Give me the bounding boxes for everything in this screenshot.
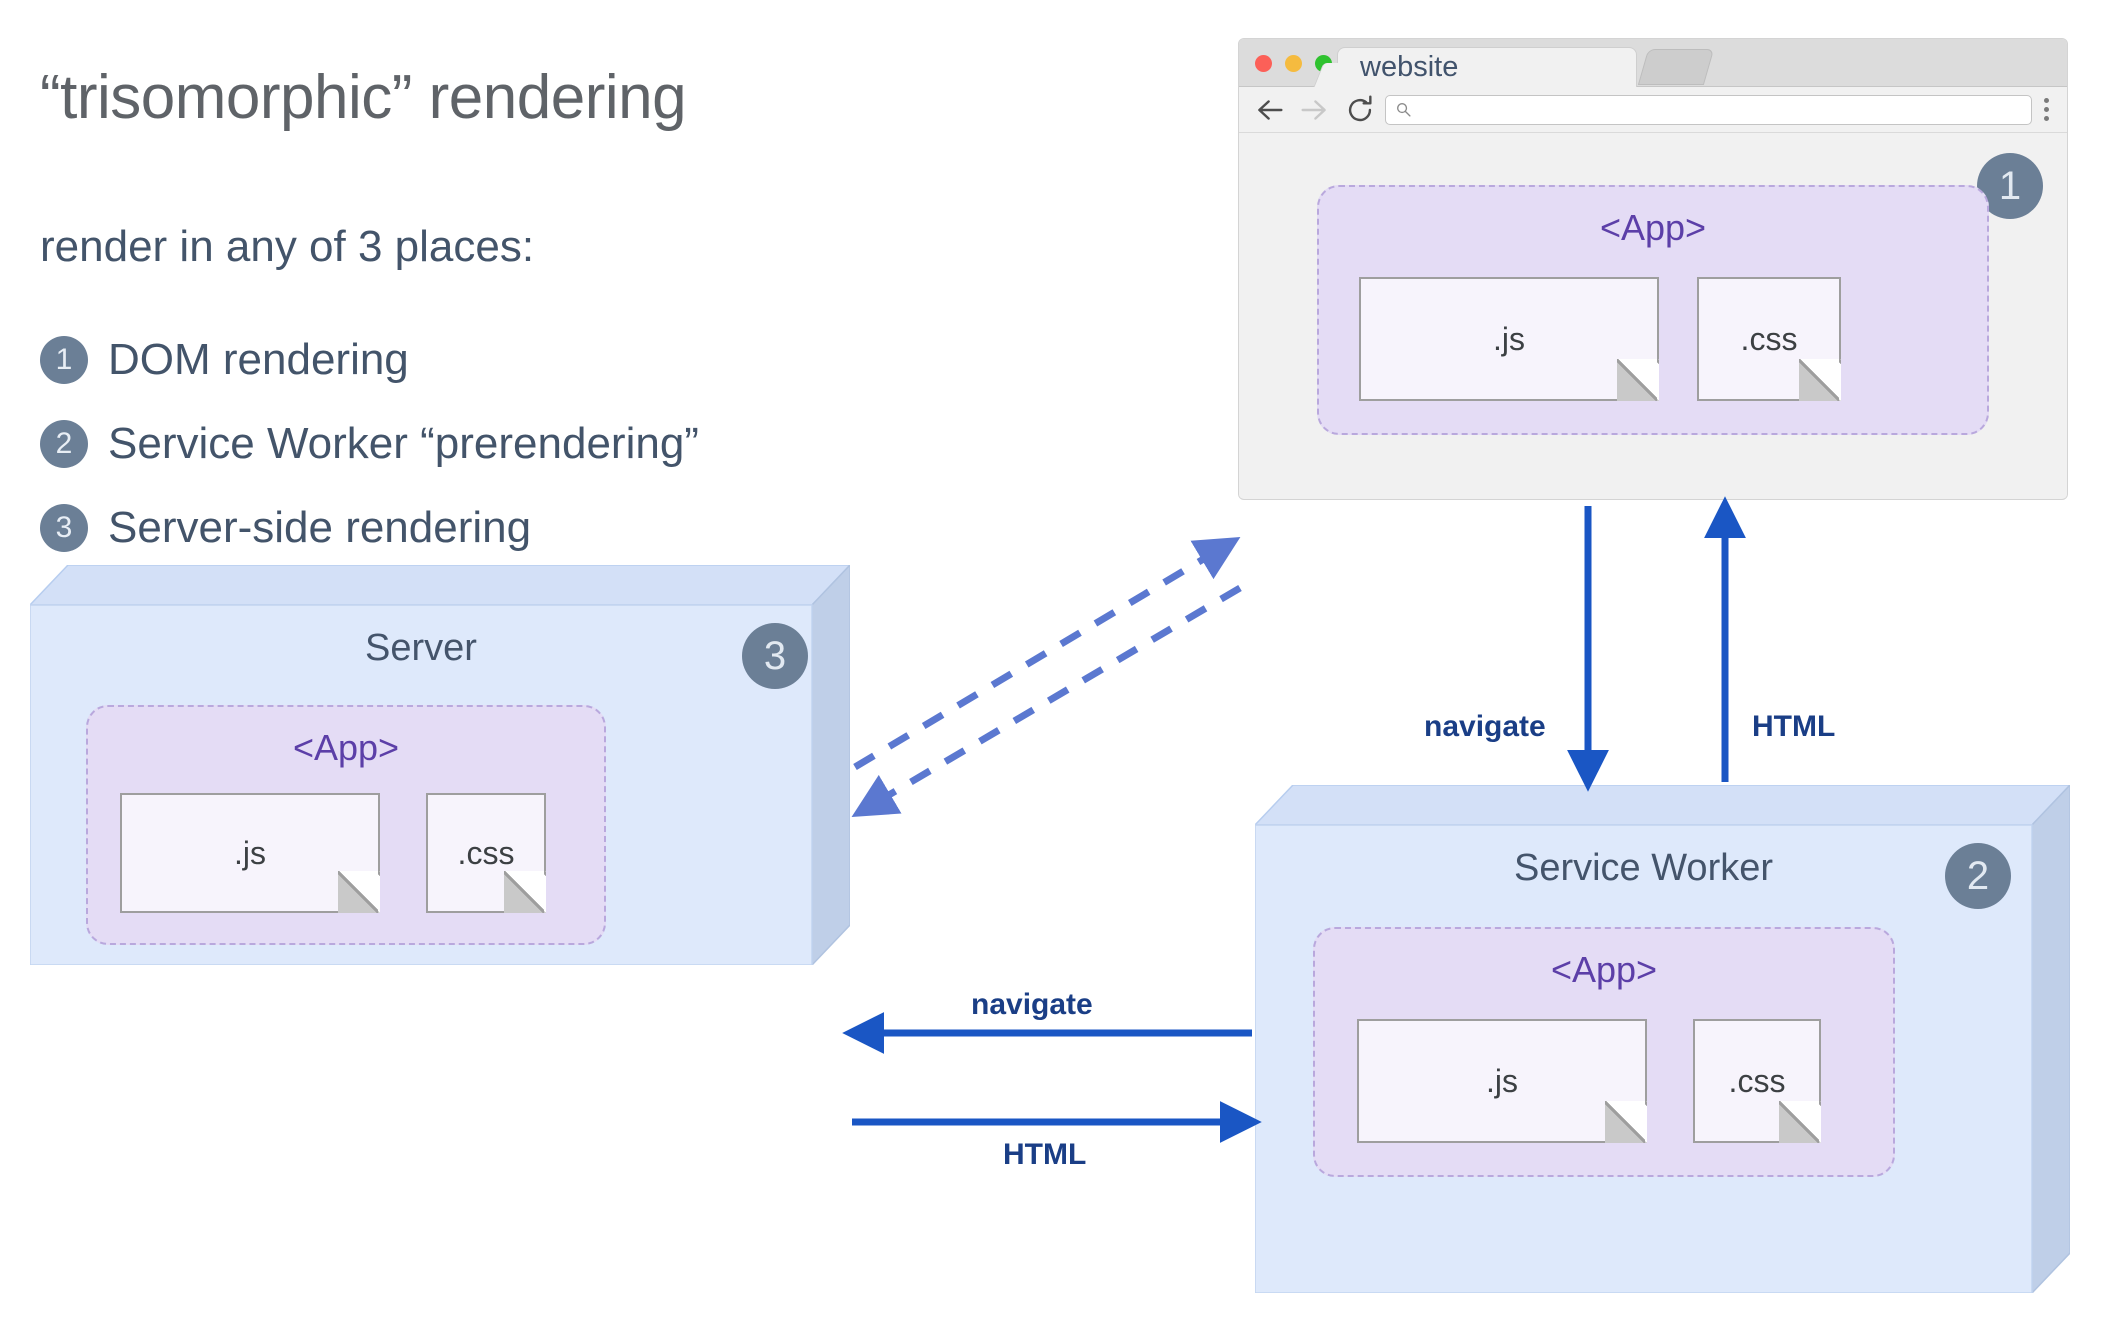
reload-icon[interactable] [1343,93,1377,127]
arrow-label-html-browser: HTML [1752,710,1835,744]
step-badge-3: 3 [742,623,808,689]
address-bar[interactable] [1385,95,2032,125]
file-css: .css [1697,277,1841,401]
file-css: .css [426,793,546,913]
app-title: <App> [88,727,604,769]
search-icon [1395,101,1412,118]
page-fold-corner [1605,1101,1647,1143]
page-fold-corner [1799,359,1841,401]
page-subtitle: render in any of 3 places: [40,222,534,272]
close-window-icon[interactable] [1255,55,1272,72]
kebab-menu-icon[interactable] [2044,98,2049,121]
list-item: 1 DOM rendering [40,318,699,402]
list-item-label: Service Worker “prerendering” [108,419,699,469]
file-js: .js [1357,1019,1647,1143]
minimize-window-icon[interactable] [1285,55,1302,72]
page-fold-corner [1779,1101,1821,1143]
back-arrow-icon[interactable] [1253,93,1287,127]
file-label: .js [1486,1063,1518,1100]
file-label: .js [1493,321,1525,358]
list-item: 3 Server-side rendering [40,486,699,570]
arrow-label-navigate-server: navigate [971,988,1093,1022]
file-label: .js [234,835,266,872]
app-title: <App> [1315,949,1893,991]
list-item-label: DOM rendering [108,335,409,385]
step-badge-2: 2 [1945,843,2011,909]
file-js: .js [120,793,380,913]
arrow-label-navigate-browser: navigate [1424,710,1546,744]
arrow-server-to-browser-dashed [855,542,1232,767]
file-label: .css [1741,321,1798,358]
page-title: “trisomorphic” rendering [40,62,686,133]
browser-window: website [1238,38,2068,500]
app-container-server: <App> .js .css [86,705,606,945]
file-label: .css [458,835,515,872]
diagram-canvas: “trisomorphic” rendering render in any o… [0,0,2108,1328]
file-label: .css [1729,1063,1786,1100]
browser-tab-website[interactable]: website [1337,47,1637,88]
browser-tab-bar: website [1239,39,2067,87]
service-worker-title: Service Worker [1255,847,2032,890]
tab-label: website [1360,51,1458,84]
browser-viewport: 1 <App> .js .css [1239,133,2067,498]
list-item-label: Server-side rendering [108,503,531,553]
page-fold-corner [1617,359,1659,401]
app-container-service-worker: <App> .js .css [1313,927,1895,1177]
places-list: 1 DOM rendering 2 Service Worker “preren… [40,318,699,570]
server-block: Server 3 <App> .js .css [30,565,850,965]
app-container-browser: <App> .js .css [1317,185,1989,435]
page-fold-corner [338,871,380,913]
browser-toolbar [1239,87,2067,133]
inactive-tab[interactable] [1638,49,1714,85]
page-fold-corner [504,871,546,913]
server-title: Server [30,627,812,670]
service-worker-block: Service Worker 2 <App> .js .css [1255,785,2070,1293]
app-title: <App> [1319,207,1987,249]
file-css: .css [1693,1019,1821,1143]
list-number-badge: 2 [40,420,88,468]
list-item: 2 Service Worker “prerendering” [40,402,699,486]
arrow-browser-to-server-dashed [860,588,1240,812]
forward-arrow-icon [1297,93,1331,127]
arrow-label-html-server: HTML [1003,1138,1086,1172]
file-js: .js [1359,277,1659,401]
list-number-badge: 3 [40,504,88,552]
list-number-badge: 1 [40,336,88,384]
